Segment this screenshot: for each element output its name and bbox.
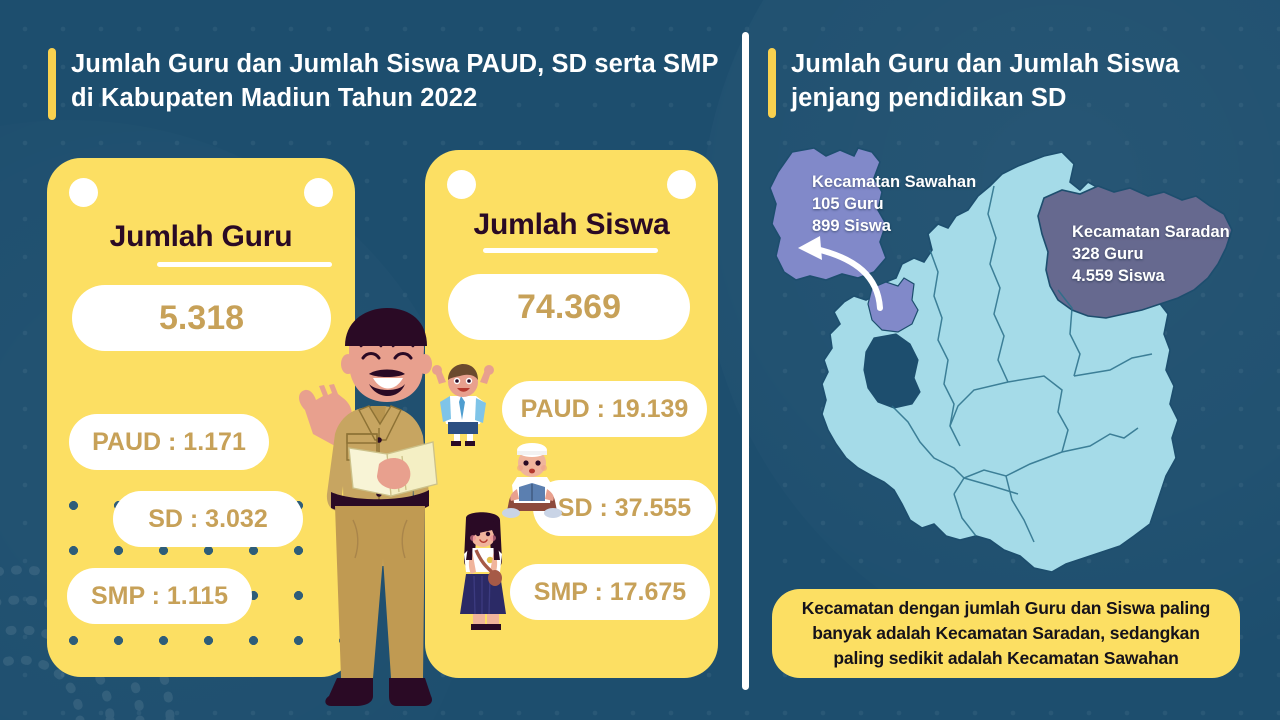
- map-label-saradan: Kecamatan Saradan 328 Guru 4.559 Siswa: [1072, 222, 1230, 288]
- summary-note-box: Kecamatan dengan jumlah Guru dan Siswa p…: [772, 589, 1240, 678]
- map-label-sawahan-guru: 105 Guru: [812, 194, 976, 216]
- card-title-underline: [483, 248, 658, 253]
- map-label-saradan-siswa: 4.559 Siswa: [1072, 266, 1230, 288]
- left-panel-title: Jumlah Guru dan Jumlah Siswa PAUD, SD se…: [48, 48, 728, 120]
- student-sd-illustration: [497, 443, 567, 523]
- map-label-sawahan: Kecamatan Sawahan 105 Guru 899 Siswa: [812, 172, 976, 238]
- guru-paud-row: PAUD : 1.171: [69, 414, 269, 470]
- siswa-paud-row: PAUD : 19.139: [502, 381, 707, 437]
- map-label-saradan-name: Kecamatan Saradan: [1072, 222, 1230, 244]
- punch-hole-right-icon: [304, 178, 333, 207]
- infographic-canvas: Jumlah Guru dan Jumlah Siswa PAUD, SD se…: [0, 0, 1280, 720]
- map-label-saradan-guru: 328 Guru: [1072, 244, 1230, 266]
- card-title: Jumlah Guru: [47, 220, 355, 254]
- guru-sd-row: SD : 3.032: [113, 491, 303, 547]
- title-accent-bar: [768, 48, 776, 118]
- map-label-sawahan-name: Kecamatan Sawahan: [812, 172, 976, 194]
- map-label-sawahan-siswa: 899 Siswa: [812, 216, 976, 238]
- title-accent-bar: [48, 48, 56, 120]
- right-title-text: Jumlah Guru dan Jumlah Siswa jenjang pen…: [791, 48, 1238, 115]
- card-title: Jumlah Siswa: [425, 208, 718, 242]
- siswa-smp-row: SMP : 17.675: [510, 564, 710, 620]
- student-smp-illustration: [452, 512, 514, 630]
- summary-note-text: Kecamatan dengan jumlah Guru dan Siswa p…: [788, 596, 1224, 671]
- vertical-divider: [742, 32, 749, 690]
- punch-hole-right-icon: [667, 170, 696, 199]
- punch-hole-left-icon: [447, 170, 476, 199]
- left-title-text: Jumlah Guru dan Jumlah Siswa PAUD, SD se…: [71, 48, 728, 115]
- guru-smp-row: SMP : 1.115: [67, 568, 252, 624]
- punch-hole-left-icon: [69, 178, 98, 207]
- student-paud-illustration: [430, 362, 496, 446]
- siswa-total-value: 74.369: [448, 274, 690, 340]
- right-panel-title: Jumlah Guru dan Jumlah Siswa jenjang pen…: [768, 48, 1238, 118]
- card-title-underline: [157, 262, 332, 267]
